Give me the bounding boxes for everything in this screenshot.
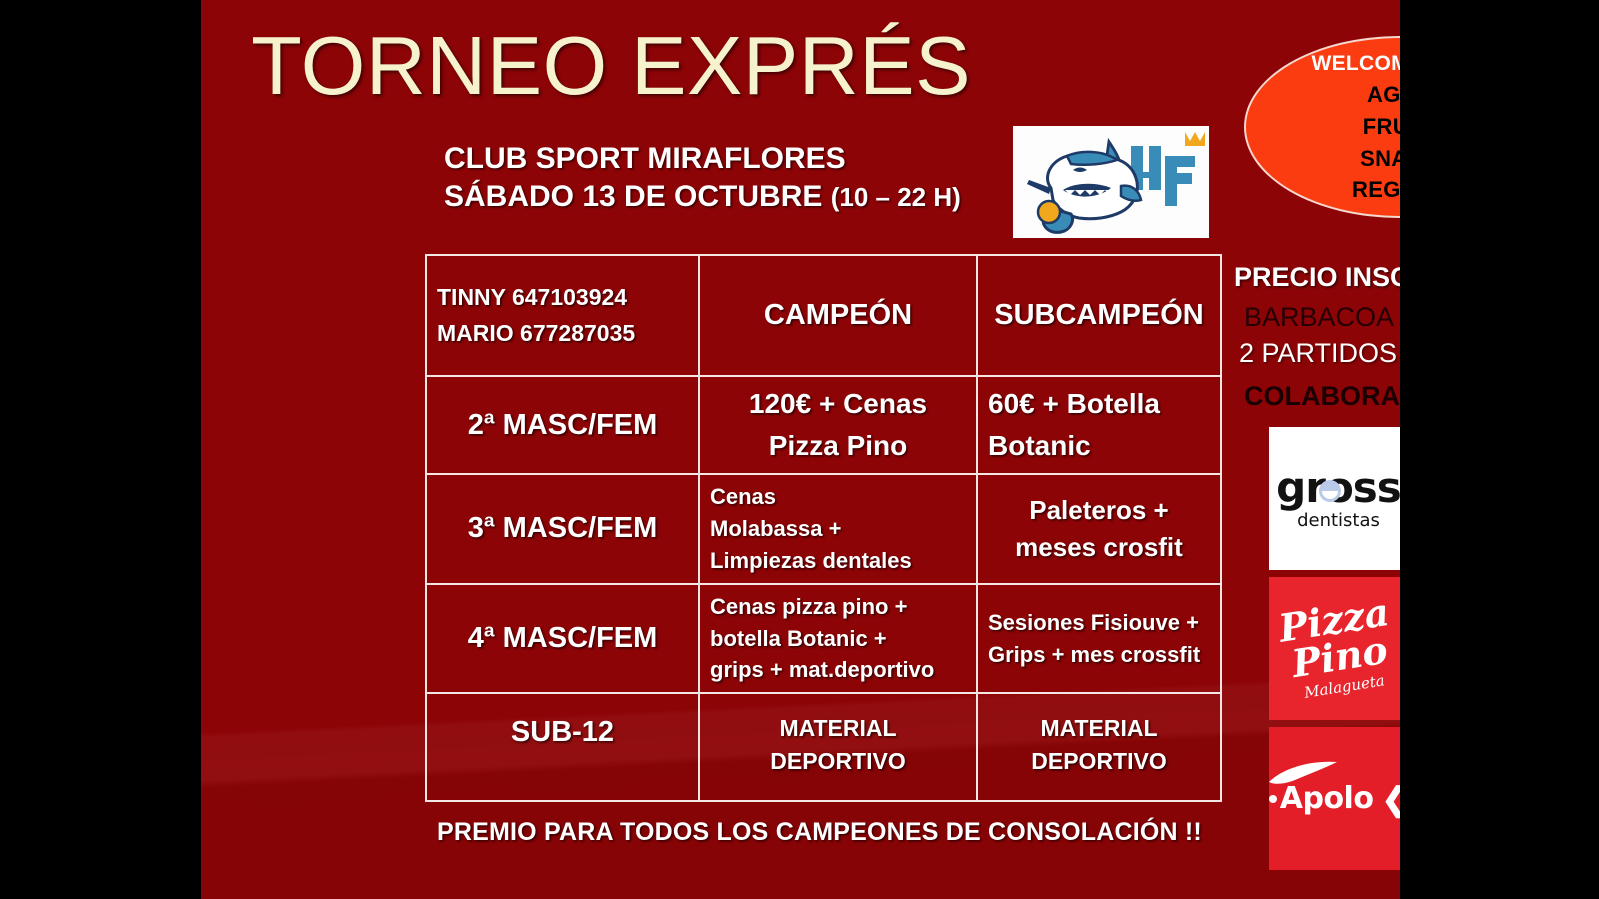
poster-canvas: TORNEO EXPRÉS CLUB SPORT MIRAFLORES SÁBA… xyxy=(201,0,1400,899)
prize-runnerup-3: Paleteros + meses crosfit xyxy=(977,474,1221,584)
welcome-pack-badge: WELCOME PACK AGUA FRUTA SNACK REGALO xyxy=(1244,36,1400,218)
category-sub12: SUB-12 xyxy=(426,693,699,801)
prize-line: botella Botanic + xyxy=(710,623,966,655)
price-info: PRECIO INSCRIPCIÓN 15€ xyxy=(1234,262,1400,293)
prize-line: Limpiezas dentales xyxy=(710,545,966,577)
prize-line: MATERIAL xyxy=(710,712,966,744)
prize-line: MATERIAL xyxy=(988,712,1210,744)
collaborators-label: COLABORAN: xyxy=(1244,381,1400,412)
sponsor-logo-pizzapino: Pizza Pino Malagueta xyxy=(1269,577,1400,720)
club-name: CLUB SPORT MIRAFLORES xyxy=(444,140,1004,178)
sponsor-logo-grid: gross dentistas MOLA BASSA xyxy=(1269,427,1400,868)
column-header-subcampeon: SUBCAMPEÓN xyxy=(977,255,1221,376)
prize-line: grips + mat.deportivo xyxy=(710,654,966,686)
prize-line: DEPORTIVO xyxy=(988,745,1210,777)
footer-note: PREMIO PARA TODOS LOS CAMPEONES DE CONSO… xyxy=(437,818,1202,847)
prize-line: DEPORTIVO xyxy=(710,745,966,777)
prize-table: TINNY 647103924 MARIO 677287035 CAMPEÓN … xyxy=(425,254,1222,802)
fish-swoosh-icon xyxy=(1269,760,1351,786)
category-3: 3ª MASC/FEM xyxy=(426,474,699,584)
gross-subtitle: dentistas xyxy=(1276,510,1400,531)
welcome-pack-item-snack: SNACK xyxy=(1360,143,1400,175)
category-4: 4ª MASC/FEM xyxy=(426,584,699,694)
eye-dot-icon xyxy=(1269,795,1277,803)
prize-line: Botanic xyxy=(988,425,1210,467)
prize-runnerup-sub12: MATERIAL DEPORTIVO xyxy=(977,693,1221,801)
guaranteed-matches-info: 2 PARTIDOS GARANTIZADOS xyxy=(1239,338,1400,369)
contacts-cell: TINNY 647103924 MARIO 677287035 xyxy=(426,255,699,376)
prize-champion-3: Cenas Molabassa + Limpiezas dentales xyxy=(699,474,977,584)
event-subtitle: CLUB SPORT MIRAFLORES SÁBADO 13 DE OCTUB… xyxy=(444,140,1004,217)
contact-tinny: TINNY 647103924 xyxy=(437,280,688,316)
prize-champion-4: Cenas pizza pino + botella Botanic + gri… xyxy=(699,584,977,694)
table-row: 2ª MASC/FEM 120€ + Cenas Pizza Pino 60€ … xyxy=(426,376,1221,474)
table-row: SUB-12 MATERIAL DEPORTIVO MATERIAL DEPOR… xyxy=(426,693,1221,801)
prize-champion-2: 120€ + Cenas Pizza Pino xyxy=(699,376,977,474)
category-2: 2ª MASC/FEM xyxy=(426,376,699,474)
shark-mascot-icon xyxy=(1013,126,1209,238)
prize-champion-sub12: MATERIAL DEPORTIVO xyxy=(699,693,977,801)
column-header-campeon: CAMPEÓN xyxy=(699,255,977,376)
prize-runnerup-4: Sesiones Fisiouve + Grips + mes crossfit xyxy=(977,584,1221,694)
prize-line: Grips + mes crossfit xyxy=(988,639,1210,671)
sponsor-logo-apolo: ‹ Apolo ❮ xyxy=(1269,727,1400,870)
welcome-pack-item-regalo: REGALO xyxy=(1352,174,1400,206)
table-row: TINNY 647103924 MARIO 677287035 CAMPEÓN … xyxy=(426,255,1221,376)
prize-line: Cenas xyxy=(710,481,966,513)
prize-line: Pizza Pino xyxy=(710,425,966,467)
page-title: TORNEO EXPRÉS xyxy=(201,24,1021,107)
club-logo xyxy=(1013,126,1209,238)
prize-line: 60€ + Botella xyxy=(988,383,1210,425)
barbecue-info: BARBACOA TODO EL DIA xyxy=(1244,302,1400,333)
prize-line: meses crosfit xyxy=(988,529,1210,565)
prize-line: Sesiones Fisiouve + xyxy=(988,607,1210,639)
table-row: 4ª MASC/FEM Cenas pizza pino + botella B… xyxy=(426,584,1221,694)
event-date-line: SÁBADO 13 DE OCTUBRE (10 – 22 H) xyxy=(444,178,1004,216)
prize-line: Cenas pizza pino + xyxy=(710,591,966,623)
apolo-wordmark: Apolo xyxy=(1280,781,1374,816)
event-date: SÁBADO 13 DE OCTUBRE xyxy=(444,180,831,213)
contact-mario: MARIO 677287035 xyxy=(437,316,688,352)
welcome-pack-item-agua: AGUA xyxy=(1367,79,1400,111)
sponsor-logo-gross: gross dentistas xyxy=(1269,427,1400,570)
smile-icon xyxy=(1319,480,1341,502)
event-hours: (10 – 22 H) xyxy=(831,182,961,212)
welcome-pack-item-fruta: FRUTA xyxy=(1363,111,1400,143)
prize-line: Molabassa + xyxy=(710,513,966,545)
prize-line: Paleteros + xyxy=(988,492,1210,528)
table-row: 3ª MASC/FEM Cenas Molabassa + Limpiezas … xyxy=(426,474,1221,584)
right-chevron-icon: ❮ xyxy=(1381,780,1400,818)
welcome-pack-title: WELCOME PACK xyxy=(1311,52,1400,76)
prize-runnerup-2: 60€ + Botella Botanic xyxy=(977,376,1221,474)
prize-line: 120€ + Cenas xyxy=(710,383,966,425)
